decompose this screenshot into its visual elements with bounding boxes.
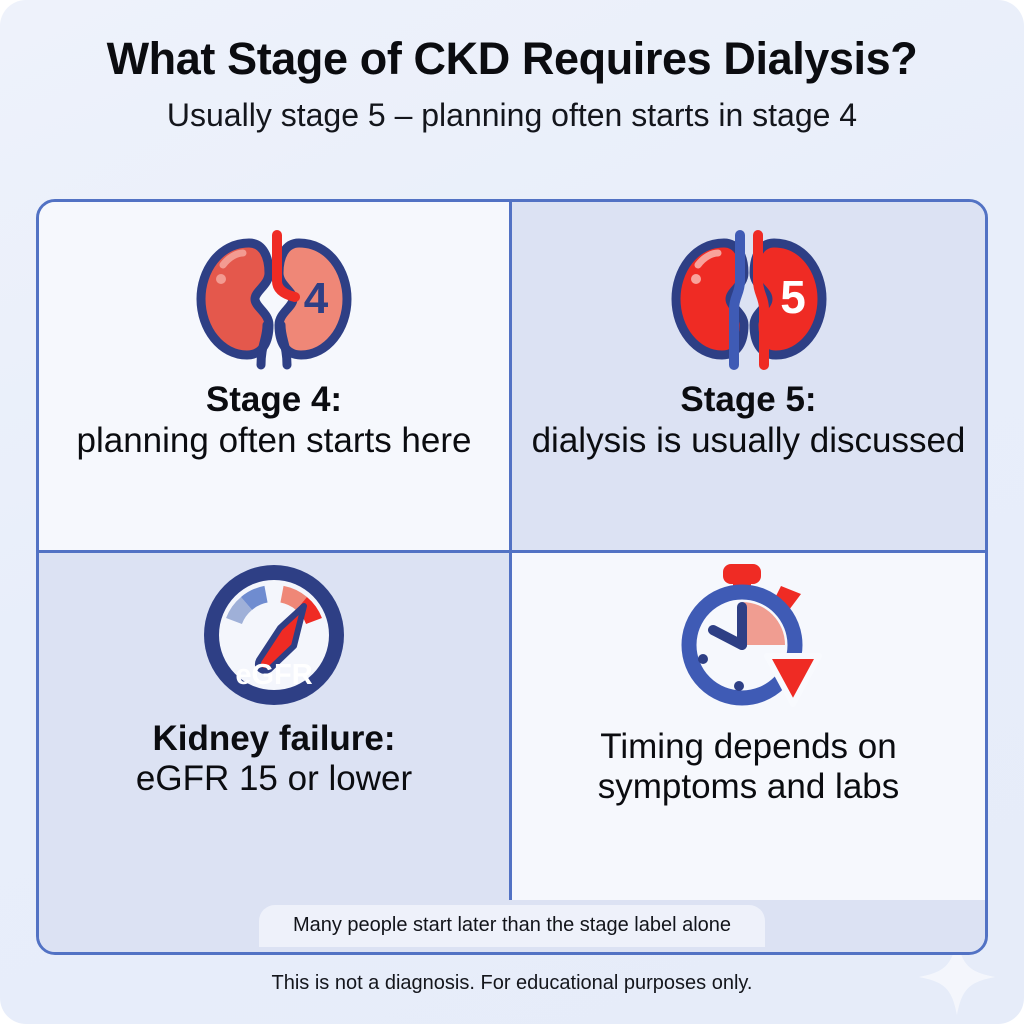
quadrant-stage-5-body: dialysis is usually discussed: [532, 421, 966, 462]
quadrant-kidney-failure-text: Kidney failure: eGFR 15 or lower: [122, 719, 426, 801]
header: What Stage of CKD Requires Dialysis? Usu…: [0, 34, 1024, 135]
egfr-gauge-icon: eGFR: [39, 565, 509, 705]
quadrant-stage-5-heading: Stage 5:: [532, 380, 966, 421]
stopwatch-icon: [512, 565, 985, 705]
quadrant-stage-4-text: Stage 4: planning often starts here: [63, 380, 486, 462]
note-strip: Many people start later than the stage l…: [39, 900, 985, 952]
quadrant-timing: Timing depends on symptoms and labs: [512, 553, 985, 904]
quadrant-stage-4-heading: Stage 4:: [77, 380, 472, 421]
quadrant-grid: 4 Stage 4: planning often starts here: [39, 202, 985, 903]
quadrant-stage-5: 5 Stage 5: dialysis is usually discussed: [512, 202, 985, 553]
quadrant-timing-text: Timing depends on symptoms and labs: [512, 727, 985, 809]
egfr-gauge-label: eGFR: [235, 659, 312, 691]
quadrant-kidney-failure-body: eGFR 15 or lower: [136, 759, 412, 800]
kidneys-stage-4-icon: 4: [39, 224, 509, 374]
page-subtitle: Usually stage 5 – planning often starts …: [0, 96, 1024, 134]
quadrant-kidney-failure: eGFR Kidney failure: eGFR 15 or lower: [39, 553, 512, 904]
quadrant-card: 4 Stage 4: planning often starts here: [36, 199, 988, 955]
quadrant-timing-body: Timing depends on symptoms and labs: [526, 727, 971, 809]
page-title: What Stage of CKD Requires Dialysis?: [0, 34, 1024, 84]
footer-disclaimer: This is not a diagnosis. For educational…: [0, 972, 1024, 995]
stage-4-badge-number: 4: [304, 274, 329, 323]
quadrant-stage-5-text: Stage 5: dialysis is usually discussed: [518, 380, 980, 462]
note-text: Many people start later than the stage l…: [259, 905, 765, 947]
kidneys-stage-5-icon: 5: [512, 224, 985, 374]
quadrant-kidney-failure-heading: Kidney failure:: [136, 719, 412, 760]
quadrant-stage-4-body: planning often starts here: [77, 421, 472, 462]
quadrant-stage-4: 4 Stage 4: planning often starts here: [39, 202, 512, 553]
infographic-canvas: What Stage of CKD Requires Dialysis? Usu…: [0, 0, 1024, 1024]
stage-5-badge-number: 5: [780, 271, 806, 323]
